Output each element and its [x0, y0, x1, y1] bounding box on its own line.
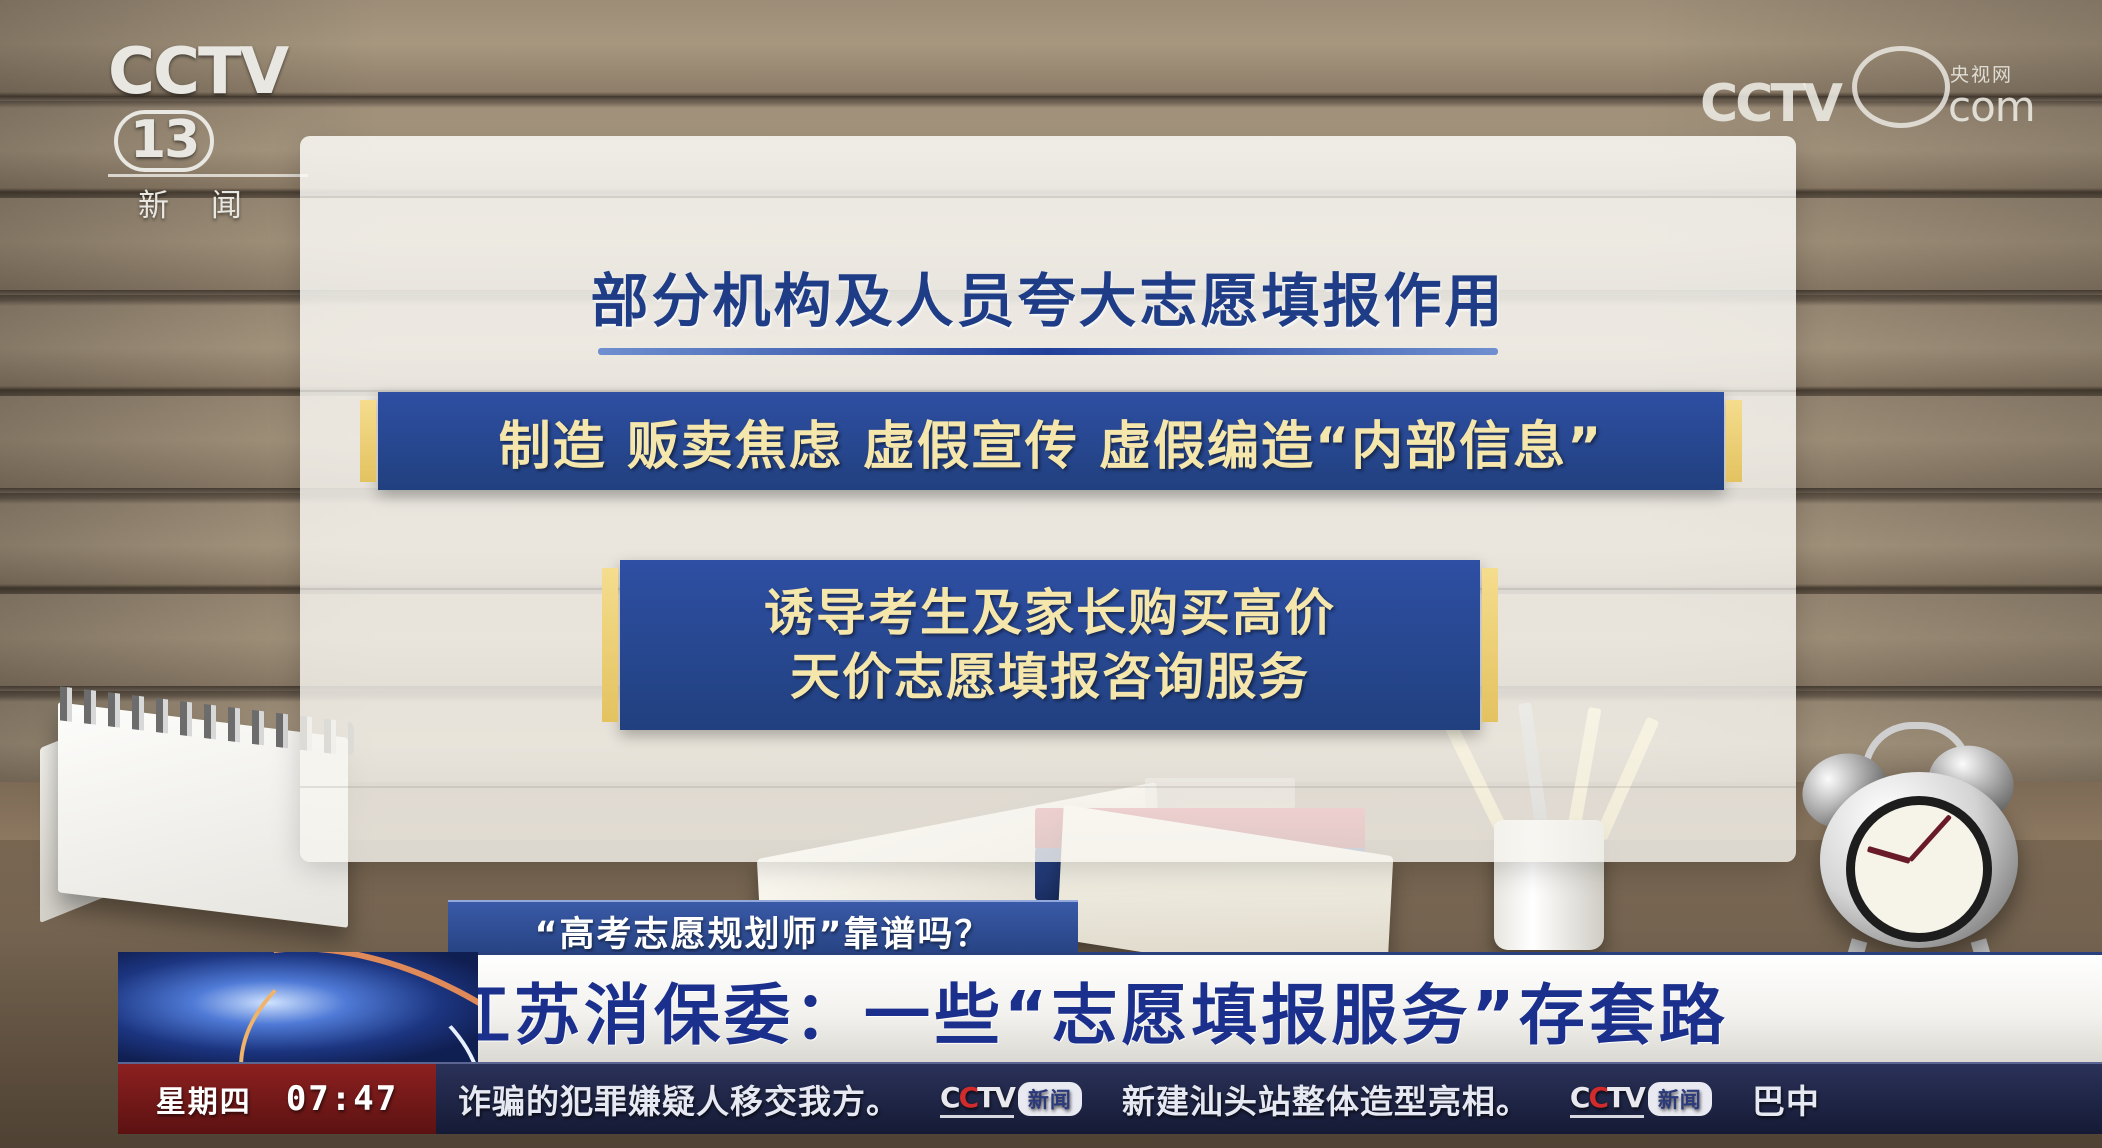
ticker-cctv-news-logo: CCTV 新闻	[940, 1081, 1082, 1118]
callout-box-1-text: 制造 贩卖焦虑 虚假宣传 虚假编造“内部信息”	[499, 404, 1604, 479]
lower-third-headline: 江苏消保委：一些“志愿填报服务”存套路	[418, 962, 1729, 1058]
panel-rule	[300, 786, 1796, 788]
clock-face	[1846, 796, 1992, 942]
callout-box-2-line2: 天价志愿填报咨询服务	[790, 648, 1310, 706]
callout-box-2: 诱导考生及家长购买高价 天价志愿填报咨询服务	[620, 560, 1480, 730]
cctv-wordmark-text: CCTV	[108, 35, 287, 109]
panel-title-underline	[598, 348, 1498, 355]
callout-box-2-line1: 诱导考生及家长购买高价	[764, 584, 1336, 642]
ticker-logo-news: 新闻	[1648, 1082, 1712, 1116]
lower-third-swirl-graphic	[118, 952, 478, 1062]
watermark-ring-icon	[1852, 46, 1950, 128]
ticker-time: 07:47	[286, 1079, 398, 1119]
ticker-item: 诈骗的犯罪嫌疑人移交我方。	[458, 1075, 900, 1123]
ticker-logo-accent: C	[1588, 1081, 1607, 1114]
logo-underline	[108, 174, 308, 177]
lower-third-kicker-text: “高考志愿规划师”靠谱吗？	[534, 906, 991, 957]
ticker-logo-news: 新闻	[1018, 1082, 1082, 1116]
watermark-com-text: com	[1948, 82, 2035, 131]
lower-third-kicker: “高考志愿规划师”靠谱吗？	[448, 900, 1078, 960]
ticker-items: 诈骗的犯罪嫌疑人移交我方。 CCTV 新闻 新建汕头站整体造型亮相。 CCTV …	[436, 1064, 2102, 1134]
news-ticker: 星期四 07:47 诈骗的犯罪嫌疑人移交我方。 CCTV 新闻 新建汕头站整体造…	[118, 1062, 2102, 1134]
ticker-logo-accent: C	[959, 1081, 978, 1114]
panel-title: 部分机构及人员夸大志愿填报作用	[300, 254, 1796, 338]
ticker-logo-wordmark: CCTV	[1570, 1081, 1644, 1118]
ticker-logo-wordmark: CCTV	[940, 1081, 1014, 1118]
ticker-clock: 星期四 07:47	[118, 1064, 436, 1134]
content-panel: 部分机构及人员夸大志愿填报作用	[300, 136, 1796, 862]
callout-box-2-text: 诱导考生及家长购买高价 天价志愿填报咨询服务	[764, 581, 1336, 709]
ticker-cctv-news-logo: CCTV 新闻	[1570, 1081, 1712, 1118]
ticker-item: 新建汕头站整体造型亮相。	[1122, 1075, 1530, 1123]
watermark-mark: CCTV	[1700, 74, 1840, 134]
ticker-item: 巴中	[1752, 1075, 1820, 1123]
channel-logo: CCTV13 新 闻	[108, 40, 378, 150]
callout-box-1: 制造 贩卖焦虑 虚假宣传 虚假编造“内部信息”	[378, 392, 1724, 490]
panel-rule	[300, 196, 1796, 198]
broadcast-screen: CCTV13 新 闻 CCTV 央视网 com 部分机构及人员夸大志愿填报作用 …	[0, 0, 2102, 1148]
lower-third-headline-bar: 江苏消保委：一些“志愿填报服务”存套路	[418, 952, 2102, 1065]
alarm-clock	[1800, 712, 2050, 952]
cctv-com-watermark: CCTV 央视网 com	[1700, 44, 2080, 134]
channel-number: 13	[114, 110, 214, 172]
ticker-weekday: 星期四	[156, 1077, 252, 1121]
